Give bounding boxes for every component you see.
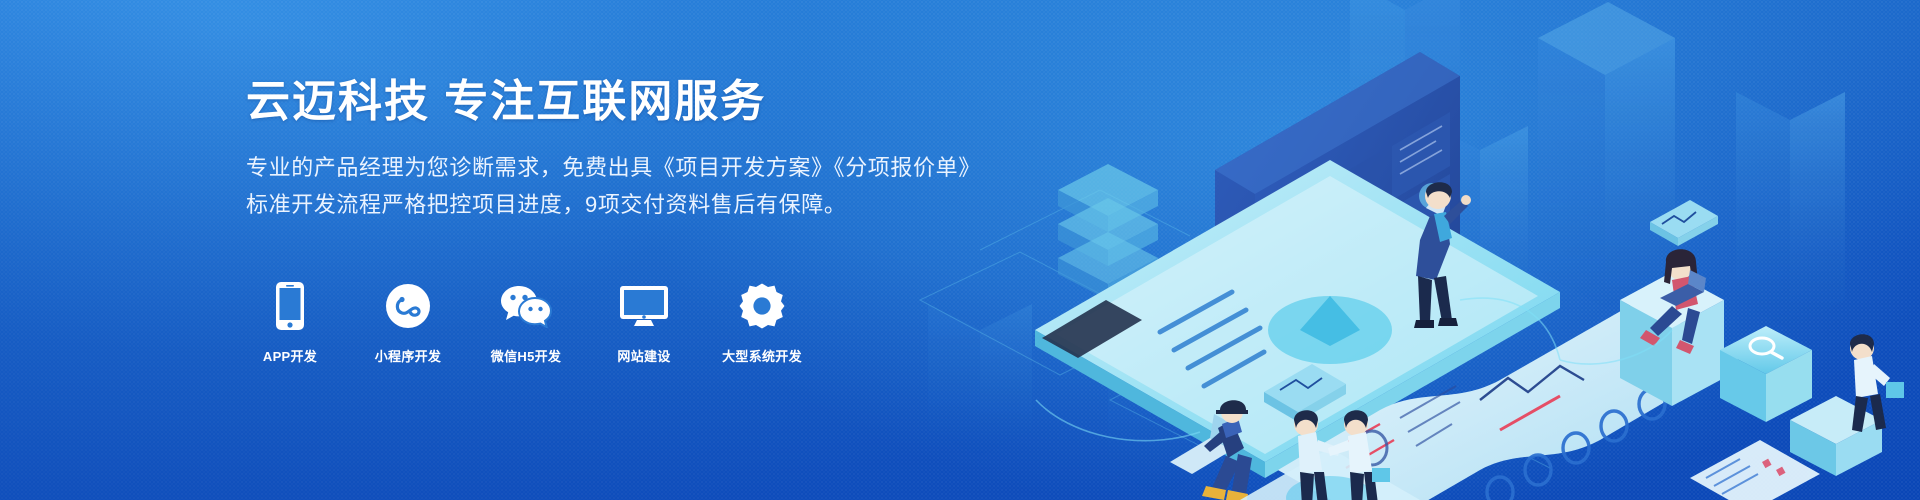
- connector-lines: [1036, 298, 1672, 441]
- wechat-icon: [500, 280, 552, 332]
- hero-subtitle: 专业的产品经理为您诊断需求，免费出具《项目开发方案》《分项报价单》 标准开发流程…: [246, 150, 1106, 224]
- monitor-icon: [619, 280, 669, 332]
- service-label: 小程序开发: [375, 346, 442, 365]
- chart-bubble-card: [1264, 364, 1346, 422]
- standing-person-pointing: [1414, 182, 1471, 328]
- service-item-mini-program[interactable]: 小程序开发: [364, 280, 452, 365]
- walking-person-with-briefcase: [1790, 334, 1904, 476]
- chart-bubble-small: [1650, 200, 1718, 246]
- magnifier-icon: [1750, 338, 1782, 358]
- city-buildings: [928, 0, 1845, 496]
- two-people-shaking-hands: [1240, 410, 1420, 500]
- gear-icon: [739, 280, 785, 332]
- hero-copy: 云迈科技 专注互联网服务 专业的产品经理为您诊断需求，免费出具《项目开发方案》《…: [246, 76, 1106, 224]
- subtitle-line-2: 标准开发流程严格把控项目进度，9项交付资料售后有保障。: [246, 187, 1106, 224]
- search-cube: [1720, 326, 1812, 422]
- dashboard-screen: [1215, 52, 1460, 418]
- service-item-large-system[interactable]: 大型系统开发: [718, 280, 806, 365]
- data-chart-panels: [1278, 300, 1740, 500]
- service-label: APP开发: [263, 346, 317, 365]
- service-item-website[interactable]: 网站建设: [600, 280, 688, 365]
- service-item-app[interactable]: APP开发: [246, 280, 334, 365]
- service-label: 网站建设: [617, 346, 670, 365]
- subtitle-line-1: 专业的产品经理为您诊断需求，免费出具《项目开发方案》《分项报价单》: [246, 150, 1106, 187]
- service-item-wechat-h5[interactable]: 微信H5开发: [482, 280, 570, 365]
- mobile-phone-icon: [275, 280, 305, 332]
- isometric-tech-illustration: [860, 0, 1920, 500]
- document-grid-card: [1690, 440, 1820, 500]
- page-title: 云迈科技 专注互联网服务: [246, 76, 1106, 128]
- grid-lines: [920, 190, 1550, 468]
- tablet-platform: [1035, 160, 1560, 478]
- service-list: APP开发 小程序开发: [246, 280, 806, 365]
- mini-program-icon: [385, 280, 431, 332]
- hero-banner: 云迈科技 专注互联网服务 专业的产品经理为您诊断需求，免费出具《项目开发方案》《…: [0, 0, 1920, 500]
- person-with-laptop-on-phone: [1170, 400, 1252, 500]
- service-label: 大型系统开发: [722, 346, 802, 365]
- service-label: 微信H5开发: [491, 346, 561, 365]
- woman-on-pedestal-with-laptop: [1620, 200, 1724, 406]
